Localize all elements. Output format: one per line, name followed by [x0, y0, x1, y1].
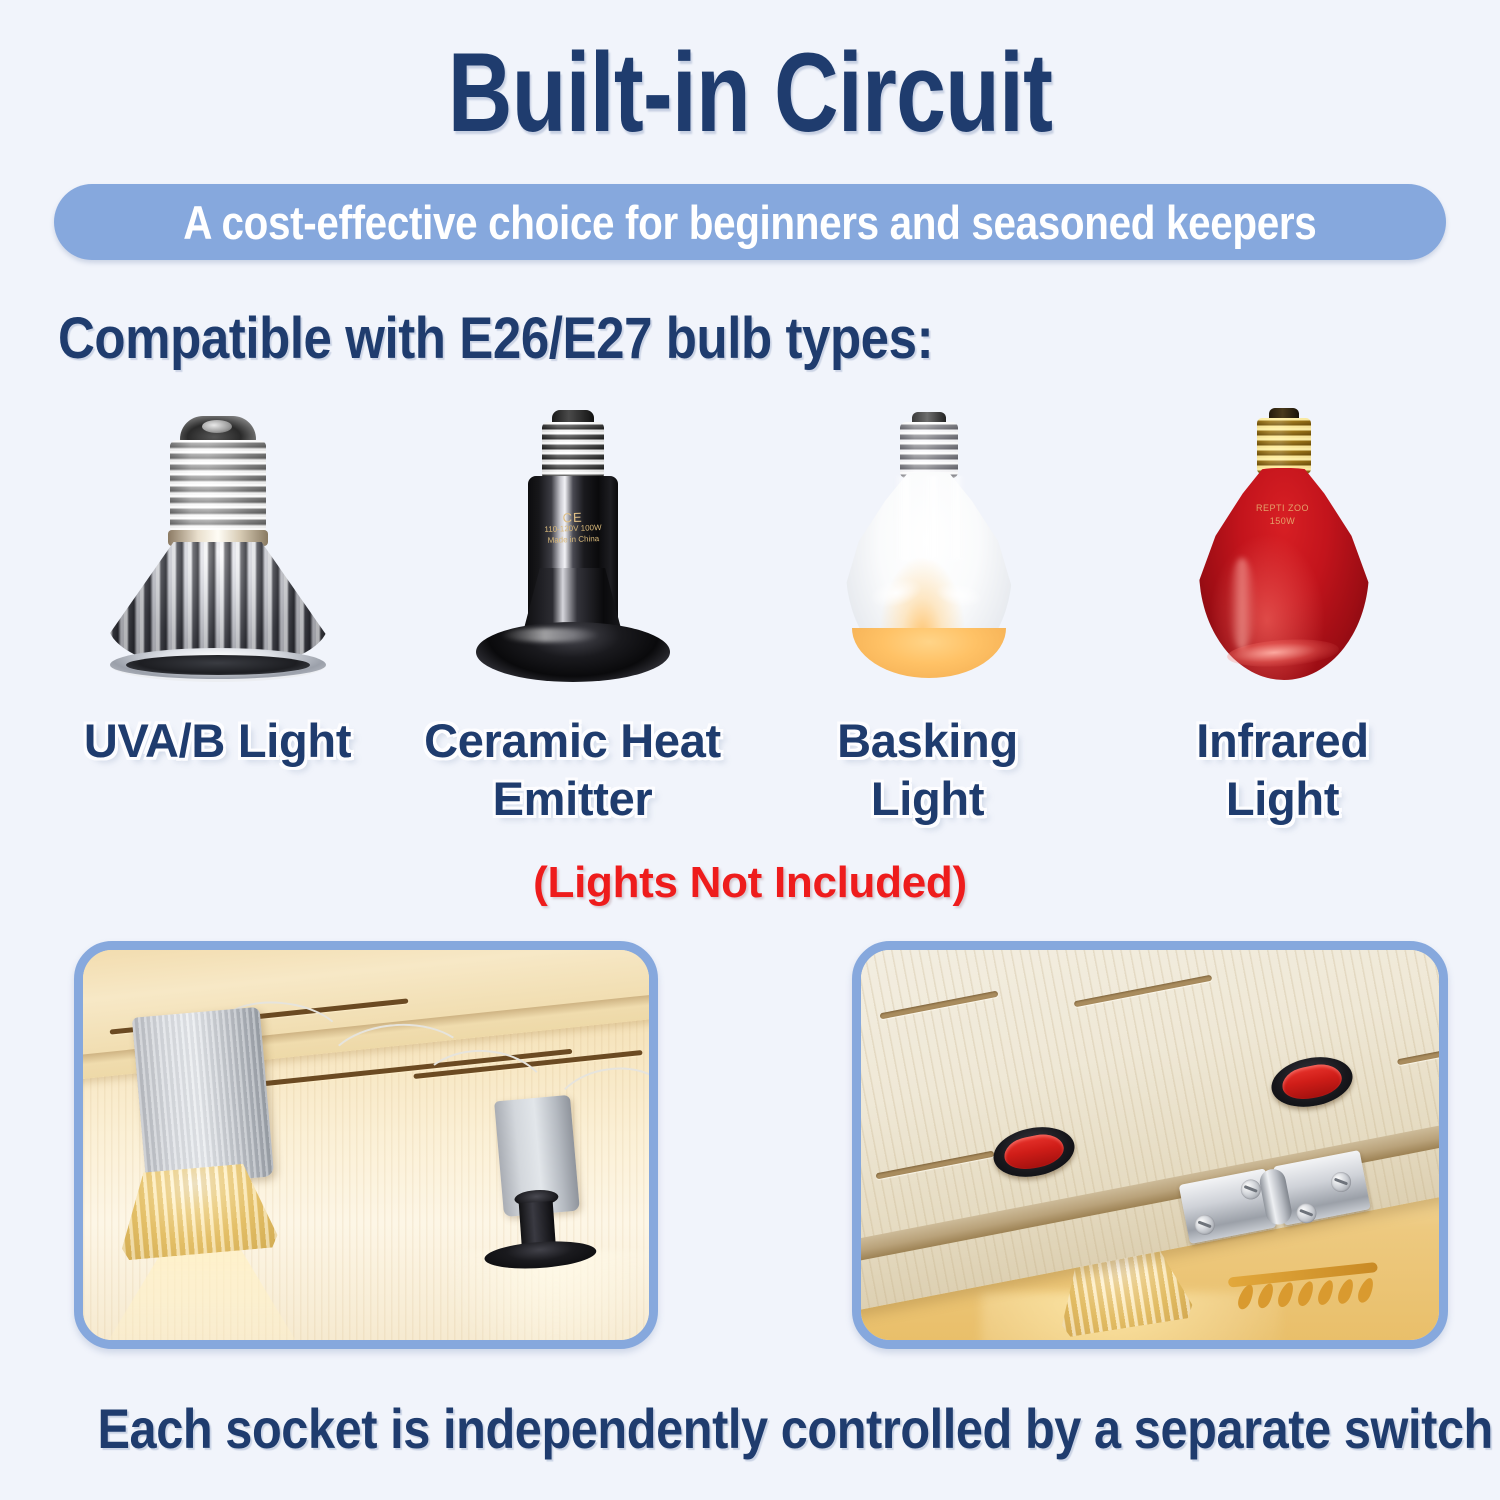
e27-screw-base [170, 440, 266, 534]
bulb-label-line1: Basking [750, 712, 1105, 770]
infrared-rating-text: 150W [1231, 515, 1335, 528]
e27-screw-base [900, 422, 958, 478]
bulb-front-rim [110, 648, 326, 682]
infrared-brand-text: REPTI ZOO [1231, 502, 1335, 515]
e27-brass-screw-base [1257, 418, 1311, 474]
footer-caption: Each socket is independently controlled … [98, 1396, 1403, 1461]
bulb-label-uva-b: UVA/B Light [40, 712, 395, 828]
emitter-body: CE 110-120V 100W Made in China [528, 476, 618, 628]
bulb-label-line1: Ceramic Heat [395, 712, 750, 770]
emitter-rating-text: 110-120V 100W [527, 521, 617, 535]
glass-highlight [1229, 558, 1255, 650]
bulb-label-infrared-light: Infrared Light [1105, 712, 1460, 828]
bulb-label-basking-light: Basking Light [750, 712, 1105, 828]
bulb-cell-basking-light [750, 398, 1105, 698]
photo-switches-on-lid [852, 941, 1448, 1349]
emitter-origin-text: Made in China [528, 532, 618, 546]
e27-screw-base [542, 422, 604, 480]
subtitle-text: A cost-effective choice for beginners an… [183, 195, 1316, 250]
bulb-label-line2: Light [1105, 770, 1460, 828]
bulb-cell-ceramic-heat-emitter: CE 110-120V 100W Made in China [395, 398, 750, 698]
bulb-label-line1: UVA/B Light [40, 712, 395, 770]
bulb-label-line2: Light [750, 770, 1105, 828]
infrared-printed-label: REPTI ZOO 150W [1231, 502, 1335, 528]
chrome-reflector-bulb-icon [108, 416, 328, 688]
photo-sockets-under-lid [74, 941, 658, 1349]
bulb-label-line1: Infrared [1105, 712, 1460, 770]
bulb-label-row: UVA/B Light Ceramic Heat Emitter Basking… [40, 712, 1460, 828]
ce-mark-text: CE [527, 510, 617, 524]
bulb-type-row: CE 110-120V 100W Made in China [40, 398, 1460, 698]
fern-leaf [1355, 1276, 1376, 1305]
emitter-printed-label: CE 110-120V 100W Made in China [527, 510, 618, 546]
ceramic-heat-emitter-icon: CE 110-120V 100W Made in China [468, 410, 678, 692]
fern-leaf [1335, 1277, 1356, 1306]
bulb-label-line2: Emitter [395, 770, 750, 828]
photo-content [83, 950, 649, 1340]
page-title: Built-in Circuit [150, 34, 1350, 152]
fern-leaf [1275, 1280, 1296, 1309]
photo-content [861, 950, 1439, 1340]
fern-leaf [1255, 1282, 1276, 1311]
warm-glow-cap [852, 628, 1006, 678]
frosted-basking-bulb-icon [828, 412, 1028, 690]
bulb-cell-uva-b [40, 398, 395, 698]
red-infrared-bulb-icon: REPTI ZOO 150W [1183, 408, 1383, 690]
emitter-base-plate [476, 622, 670, 682]
bulb-label-ceramic-heat-emitter: Ceramic Heat Emitter [395, 712, 750, 828]
fern-leaf [1315, 1278, 1336, 1307]
section-heading: Compatible with E26/E27 bulb types: [58, 305, 933, 372]
fern-leaf [1295, 1279, 1316, 1308]
lights-not-included-note: (Lights Not Included) [0, 858, 1500, 908]
fern-leaf [1235, 1283, 1256, 1312]
subtitle-banner: A cost-effective choice for beginners an… [54, 184, 1446, 260]
lamp-socket-left [132, 1007, 274, 1188]
bulb-cell-infrared-light: REPTI ZOO 150W [1105, 398, 1460, 698]
ceramic-heat-emitter-installed [481, 1198, 597, 1272]
filament-glow [894, 476, 964, 560]
